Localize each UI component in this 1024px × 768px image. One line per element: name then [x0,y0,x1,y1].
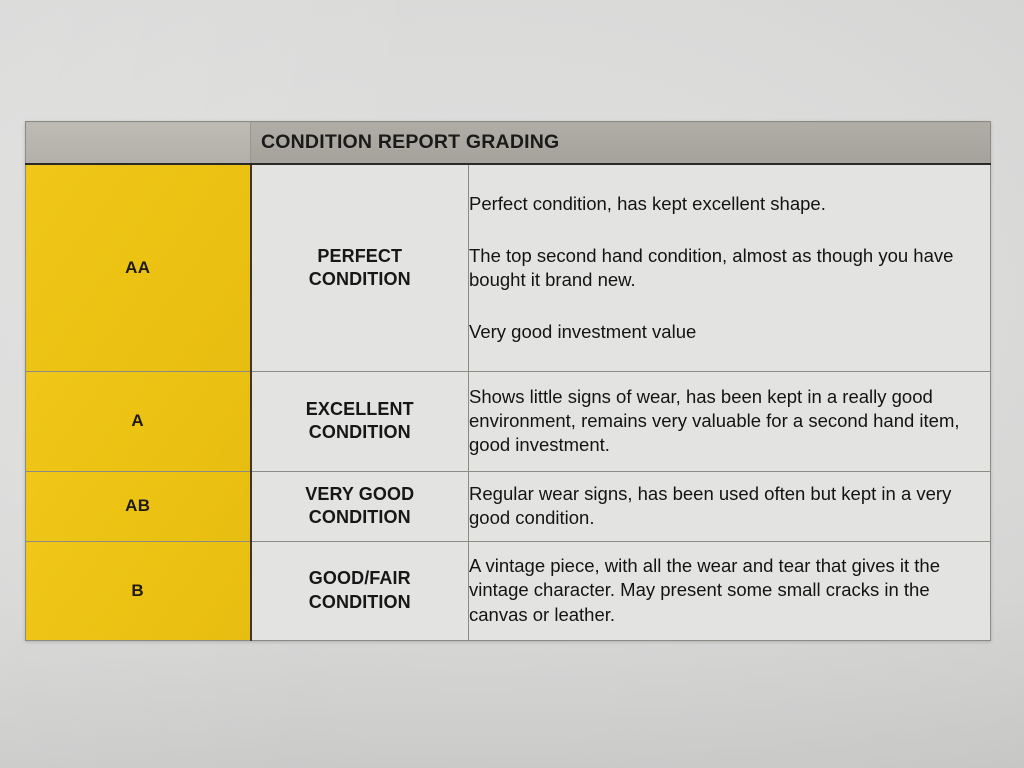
grade-label: A [131,411,144,430]
table-row: A EXCELLENT CONDITION Shows little signs… [26,371,991,471]
description-cell-ab: Regular wear signs, has been used often … [469,471,991,541]
condition-name-cell-ab: VERY GOOD CONDITION [251,471,469,541]
condition-name-cell-b: GOOD/FAIR CONDITION [251,541,469,640]
condition-name-line-2: CONDITION [252,421,469,444]
description-paragraph: Regular wear signs, has been used often … [469,482,990,530]
table-row: B GOOD/FAIR CONDITION A vintage piece, w… [26,541,991,640]
description-paragraph: A vintage piece, with all the wear and t… [469,554,990,626]
table-title-cell: CONDITION REPORT GRADING [251,122,991,165]
grade-label: AA [125,258,150,277]
condition-name-line-2: CONDITION [252,268,469,291]
header-spacer-cell [26,122,251,165]
condition-name-cell-aa: PERFECT CONDITION [251,164,469,371]
condition-report-grading-table: CONDITION REPORT GRADING AA PERFECT COND… [25,121,991,641]
grade-cell-aa: AA [26,164,251,371]
condition-name-line-1: EXCELLENT [252,398,469,421]
condition-name-line-1: PERFECT [252,245,469,268]
condition-name-line-2: CONDITION [252,591,469,614]
condition-name-cell-a: EXCELLENT CONDITION [251,371,469,471]
description-paragraph: Perfect condition, has kept excellent sh… [469,192,990,216]
description-cell-a: Shows little signs of wear, has been kep… [469,371,991,471]
condition-name-line-1: GOOD/FAIR [252,567,469,590]
grade-label: B [131,581,144,600]
description-cell-b: A vintage piece, with all the wear and t… [469,541,991,640]
grade-cell-ab: AB [26,471,251,541]
grade-cell-b: B [26,541,251,640]
description-cell-aa: Perfect condition, has kept excellent sh… [469,164,991,371]
table-row: AB VERY GOOD CONDITION Regular wear sign… [26,471,991,541]
grade-cell-a: A [26,371,251,471]
condition-name-line-2: CONDITION [252,506,469,529]
grade-label: AB [125,496,150,515]
description-paragraph: Shows little signs of wear, has been kep… [469,385,990,457]
page-title: CONDITION REPORT GRADING [251,131,990,154]
table-header-row: CONDITION REPORT GRADING [26,122,991,165]
description-paragraph: Very good investment value [469,320,990,344]
condition-name-line-1: VERY GOOD [252,483,469,506]
description-paragraph: The top second hand condition, almost as… [469,244,990,292]
table-row: AA PERFECT CONDITION Perfect condition, … [26,164,991,371]
